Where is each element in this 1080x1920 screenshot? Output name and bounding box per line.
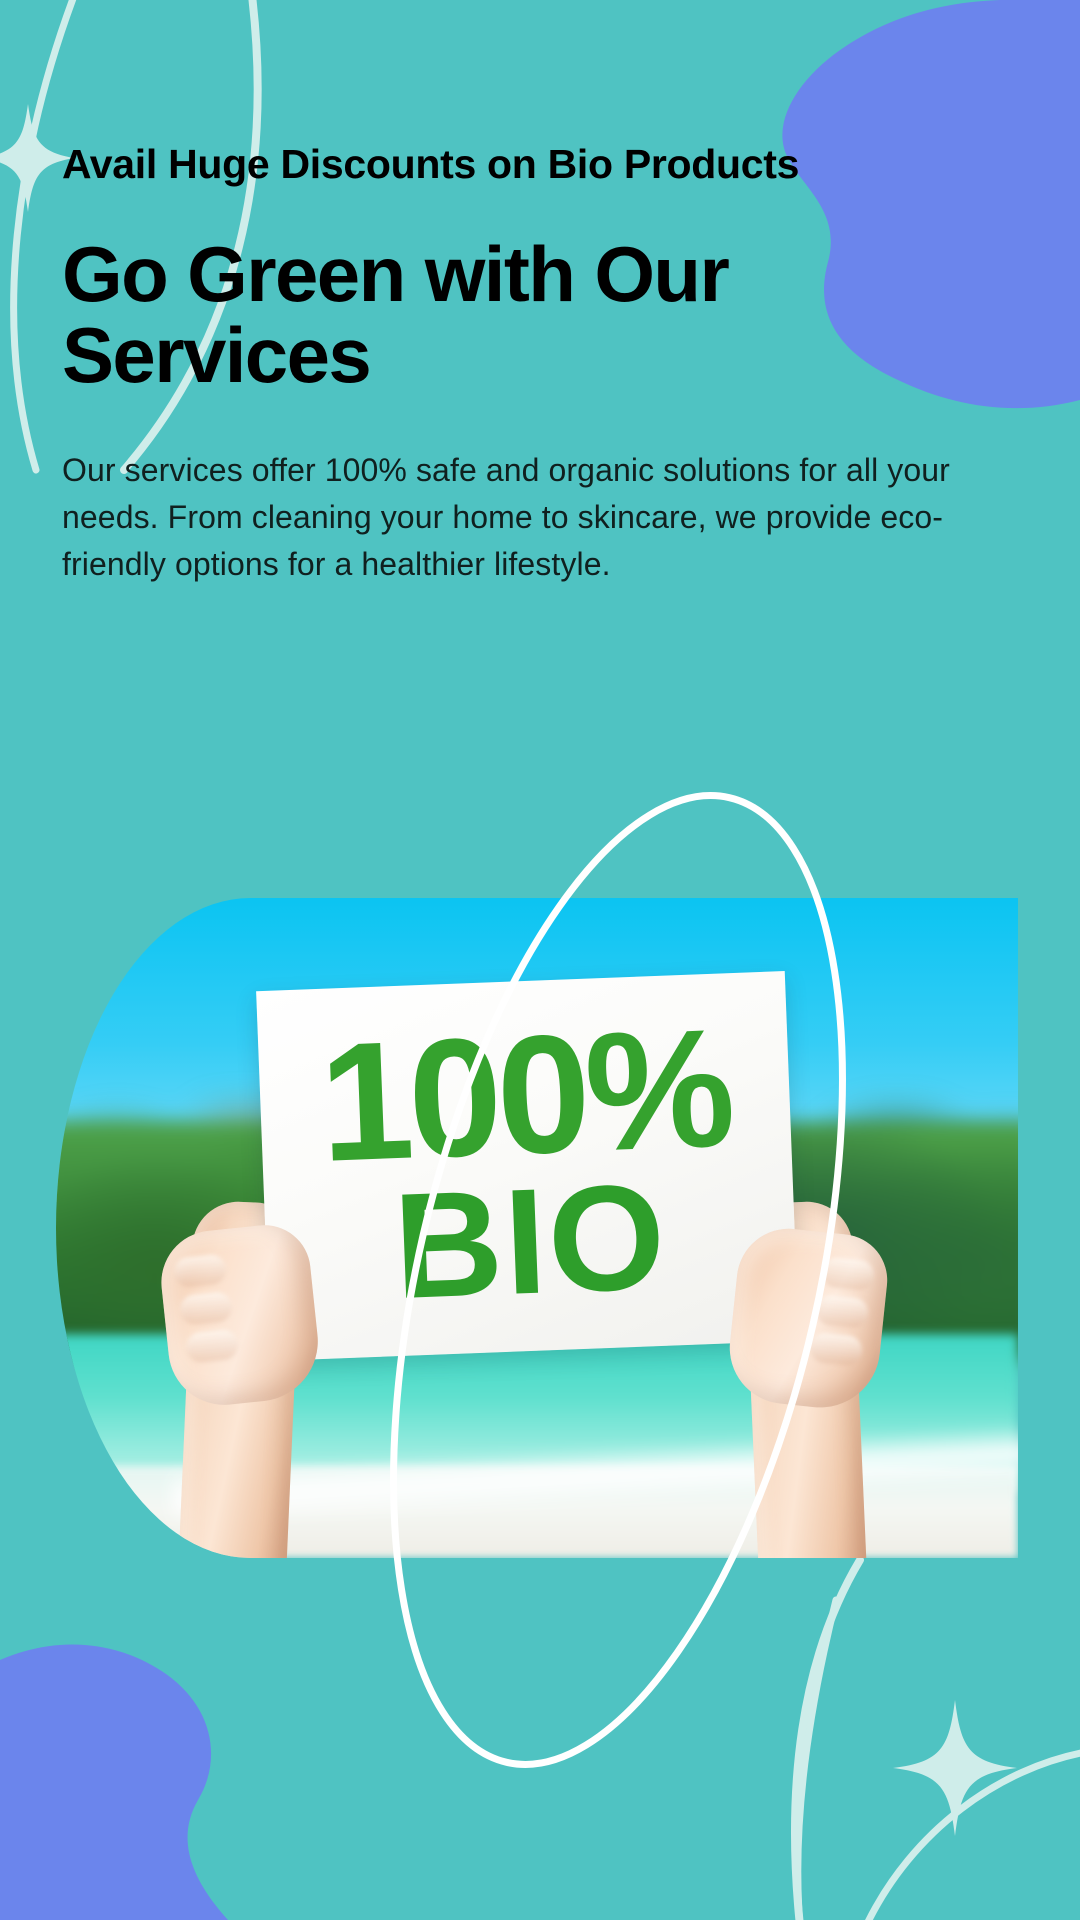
bio-sign: 100% BIO	[256, 970, 799, 1360]
arc-bottom-right	[866, 1752, 1080, 1920]
hero-photo: 100% BIO	[56, 898, 1018, 1558]
blob-bottom-left-shape	[0, 1644, 228, 1920]
photo-hand-left	[156, 1221, 323, 1411]
bio-sign-percent: 100%	[317, 1014, 732, 1177]
ellipse-center-soft	[798, 1600, 836, 1920]
copy-block: Avail Huge Discounts on Bio Products Go …	[62, 140, 992, 588]
page-title: Go Green with Our Services	[62, 234, 892, 395]
sparkle-bottom-right-icon	[893, 1700, 1017, 1836]
bio-sign-word: BIO	[391, 1168, 669, 1313]
poster-canvas: Avail Huge Discounts on Bio Products Go …	[0, 0, 1080, 1920]
hero-photo-scene: 100% BIO	[56, 898, 1018, 1558]
body-paragraph: Our services offer 100% safe and organic…	[62, 447, 972, 588]
eyebrow-text: Avail Huge Discounts on Bio Products	[62, 140, 862, 188]
arc-bottom-left-soft	[795, 1560, 860, 1920]
